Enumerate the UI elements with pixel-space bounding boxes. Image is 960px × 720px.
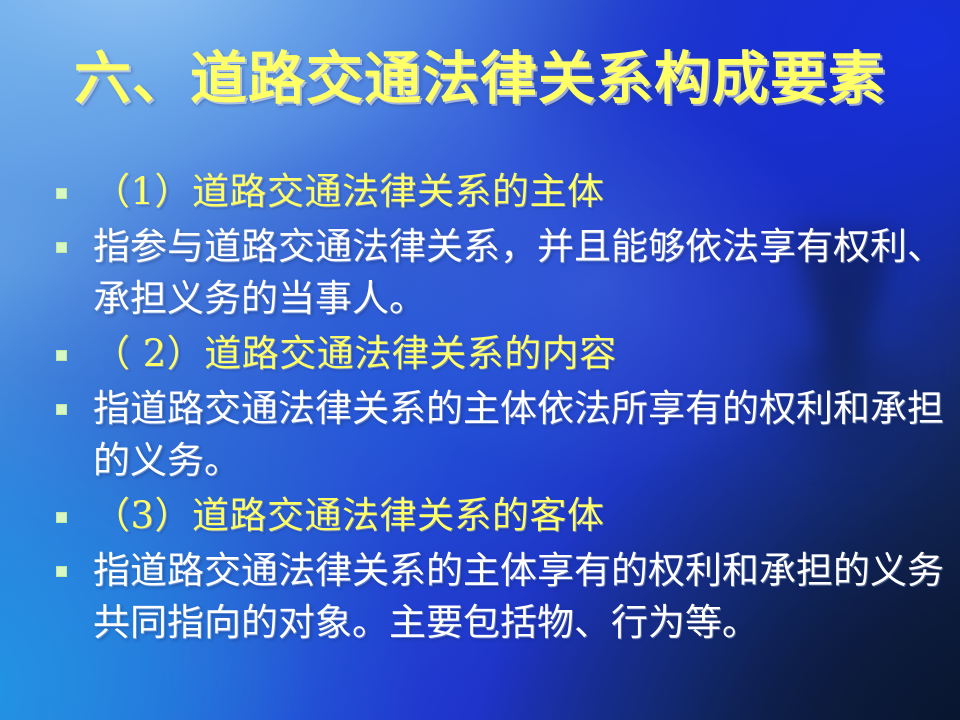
- list-item: 指参与道路交通法律关系，并且能够依法享有权利、承担义务的当事人。: [56, 221, 956, 325]
- list-item-label: 指道路交通法律关系的主体依法所享有的权利和承担的义务。: [67, 383, 956, 487]
- list-item: 指道路交通法律关系的主体依法所享有的权利和承担的义务。: [56, 383, 956, 487]
- square-bullet-icon: [56, 242, 67, 253]
- square-bullet-icon: [56, 566, 67, 577]
- list-item: （ 2）道路交通法律关系的内容: [56, 328, 956, 380]
- square-bullet-icon: [56, 404, 67, 415]
- square-bullet-icon: [56, 188, 67, 199]
- list-item: 指道路交通法律关系的主体享有的权利和承担的义务共同指向的对象。主要包括物、行为等…: [56, 545, 956, 649]
- list-item-label: （1）道路交通法律关系的主体: [67, 166, 956, 218]
- list-item: （1）道路交通法律关系的主体: [56, 166, 956, 218]
- list-item-label: 指道路交通法律关系的主体享有的权利和承担的义务共同指向的对象。主要包括物、行为等…: [67, 545, 956, 649]
- list-item-label: （ 2）道路交通法律关系的内容: [67, 328, 956, 380]
- square-bullet-icon: [56, 350, 67, 361]
- list-item-label: （3）道路交通法律关系的客体: [67, 490, 956, 542]
- square-bullet-icon: [56, 512, 67, 523]
- list-item: （3）道路交通法律关系的客体: [56, 490, 956, 542]
- slide-body-content: （1）道路交通法律关系的主体 指参与道路交通法律关系，并且能够依法享有权利、承担…: [56, 166, 956, 652]
- list-item-label: 指参与道路交通法律关系，并且能够依法享有权利、承担义务的当事人。: [67, 221, 956, 325]
- slide-title: 六、道路交通法律关系构成要素: [0, 47, 960, 111]
- presentation-slide: 六、道路交通法律关系构成要素 （1）道路交通法律关系的主体 指参与道路交通法律关…: [0, 0, 960, 720]
